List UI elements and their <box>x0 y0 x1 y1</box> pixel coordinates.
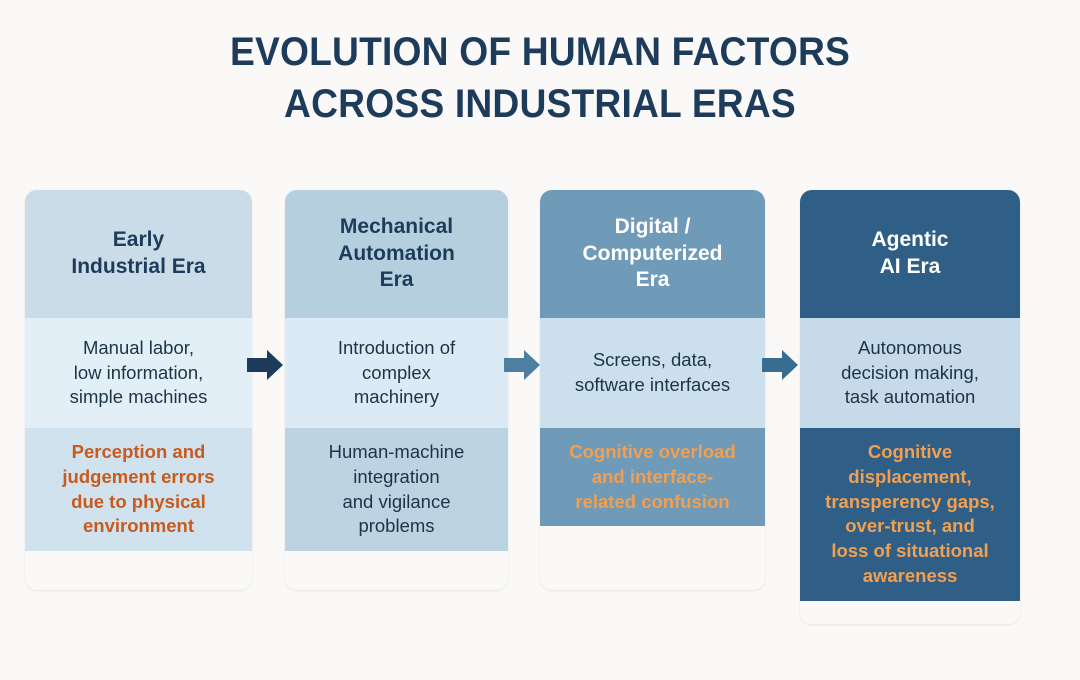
era-risk-early-industrial-era: Perception andjudgement errorsdue to phy… <box>25 428 252 551</box>
era-header-mechanical-automation-era: MechanicalAutomationEra <box>285 190 508 318</box>
era-risk-digital-computerized-era: Cognitive overloadand interface-related … <box>540 428 765 526</box>
era-header-early-industrial-era: EarlyIndustrial Era <box>25 190 252 318</box>
era-description-mechanical-automation-era: Introduction ofcomplexmachinery <box>285 318 508 428</box>
era-flow-diagram: EarlyIndustrial EraManual labor,low info… <box>0 190 1080 650</box>
arrow-digital-to-agentic-icon <box>760 345 800 385</box>
era-header-agentic-ai-era: AgenticAI Era <box>800 190 1020 318</box>
era-description-digital-computerized-era: Screens, data,software interfaces <box>540 318 765 428</box>
arrow-mechanical-to-digital-icon <box>502 345 542 385</box>
era-risk-agentic-ai-era: Cognitivedisplacement,transperency gaps,… <box>800 428 1020 601</box>
era-card-early-industrial-era[interactable]: EarlyIndustrial EraManual labor,low info… <box>25 190 252 590</box>
era-card-agentic-ai-era[interactable]: AgenticAI EraAutonomousdecision making,t… <box>800 190 1020 624</box>
page-title-line-2: ACROSS INDUSTRIAL ERAS <box>38 78 1042 130</box>
arrow-early-to-mechanical-icon <box>245 345 285 385</box>
era-card-mechanical-automation-era[interactable]: MechanicalAutomationEraIntroduction ofco… <box>285 190 508 590</box>
era-description-early-industrial-era: Manual labor,low information,simple mach… <box>25 318 252 428</box>
page-title-line-1: EVOLUTION OF HUMAN FACTORS <box>38 26 1042 78</box>
page-title: EVOLUTION OF HUMAN FACTORS ACROSS INDUST… <box>0 26 1080 130</box>
era-header-digital-computerized-era: Digital /ComputerizedEra <box>540 190 765 318</box>
era-risk-mechanical-automation-era: Human-machineintegrationand vigilancepro… <box>285 428 508 551</box>
era-description-agentic-ai-era: Autonomousdecision making,task automatio… <box>800 318 1020 428</box>
era-card-digital-computerized-era[interactable]: Digital /ComputerizedEraScreens, data,so… <box>540 190 765 590</box>
